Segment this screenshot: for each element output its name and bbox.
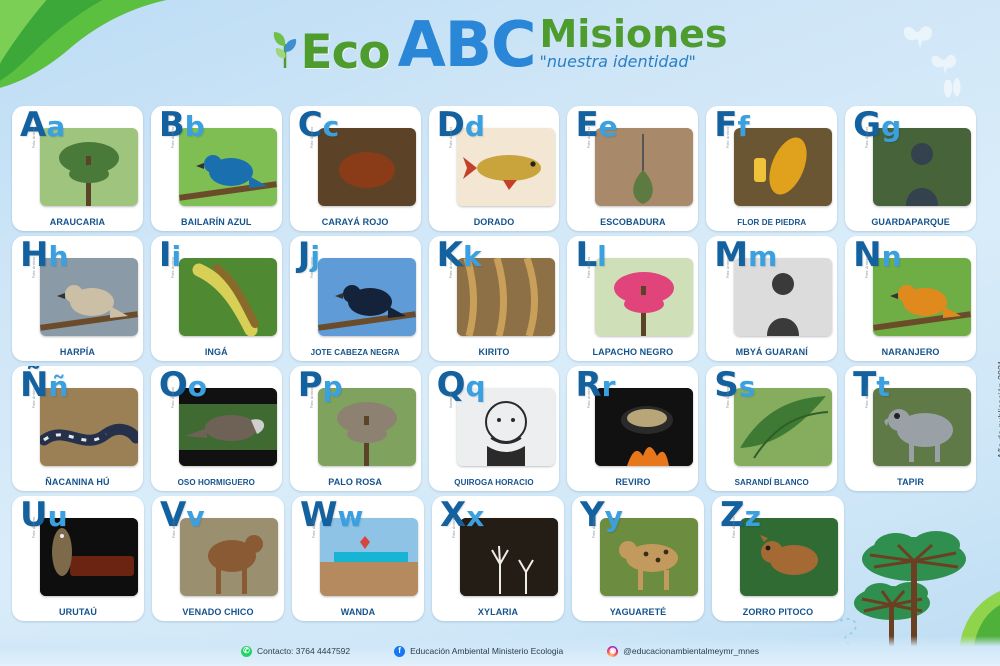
letter-card-q[interactable]: QqIlustraciónQUIROGA HORACIO [429, 366, 560, 491]
photo-credit: Foto: Archivo [32, 496, 36, 538]
lowercase-letter: d [465, 110, 485, 143]
photo-credit: Foto: Archivo [310, 106, 314, 148]
lowercase-letter: b [185, 110, 205, 143]
logo-misiones-text: Misiones [539, 12, 727, 56]
instagram-icon: ◉ [607, 646, 618, 657]
lowercase-letter: u [48, 500, 68, 533]
letter-card-t[interactable]: TtFoto: ArchivoTAPIR [845, 366, 976, 491]
lowercase-letter: ñ [48, 370, 68, 403]
card-letters: Tt [853, 368, 890, 402]
card-caption: URUTAÚ [12, 607, 144, 617]
lowercase-letter: w [338, 500, 364, 533]
pink-lapacho-tree-photo [595, 258, 693, 336]
card-caption: HARPÍA [12, 347, 143, 357]
logo-subtitle-text: "nuestra identidad" [539, 52, 695, 71]
letter-card-g[interactable]: GgFoto: ArchivoGUARDAPARQUE [845, 106, 976, 231]
card-caption: DORADO [429, 217, 560, 227]
card-letters: Rr [575, 368, 615, 402]
card-letters: Uu [20, 498, 68, 532]
card-caption: SARANDÍ BLANCO [706, 478, 837, 487]
footer-contact-item[interactable]: fEducación Ambiental Ministerio Ecologia [394, 646, 563, 657]
card-caption: WANDA [292, 607, 424, 617]
card-caption: ARAUCARIA [12, 217, 143, 227]
letter-card-e[interactable]: EeFoto: ArchivoESCOBADURA [567, 106, 698, 231]
lowercase-letter: f [738, 110, 750, 143]
photo-credit: Foto: Archivo [449, 106, 453, 148]
card-caption: GUARDAPARQUE [845, 217, 976, 227]
footer-contact-text: Contacto: 3764 4447592 [257, 646, 350, 656]
facebook-icon: f [394, 646, 405, 657]
letter-card-l[interactable]: LlFoto: ArchivoLAPACHO NEGRO [567, 236, 698, 361]
photo-credit: Foto: Archivo [587, 236, 591, 278]
lowercase-letter: g [881, 110, 901, 143]
card-caption: BAILARÍN AZUL [151, 217, 282, 227]
photo-credit: Foto: Archivo [32, 236, 36, 278]
letter-card-k[interactable]: KkFoto: ArchivoKIRITO [429, 236, 560, 361]
card-letters: Yy [580, 498, 623, 532]
photo-credit: Foto: Archivo [592, 496, 596, 538]
lowercase-letter: c [323, 110, 340, 143]
footer-contact-text: @educacionambientalmeymr_mnes [623, 646, 759, 656]
card-caption: NARANJERO [845, 347, 976, 357]
uppercase-letter: M [714, 236, 748, 275]
photo-credit: Foto: Archivo [310, 236, 314, 278]
letter-card-y[interactable]: YyFoto: ArchivoYAGUARETÉ [572, 496, 704, 621]
sprout-icon [272, 28, 298, 68]
uppercase-letter: J [298, 236, 311, 275]
letter-card-v[interactable]: VvFoto: ArchivoVENADO CHICO [152, 496, 284, 621]
lowercase-letter: l [597, 240, 607, 273]
photo-credit: Foto: Archivo [32, 106, 36, 148]
card-caption: KIRITO [429, 347, 560, 357]
lowercase-letter: q [465, 370, 485, 403]
logo-row: Eco ABC Misiones "nuestra identidad" [272, 14, 727, 76]
card-caption: YAGUARETÉ [572, 607, 704, 617]
letter-card-n[interactable]: NnFoto: ArchivoNARANJERO [845, 236, 976, 361]
photo-credit: Foto: Archivo [726, 366, 730, 408]
lowercase-letter: y [605, 500, 623, 533]
card-letters: Jj [298, 238, 320, 272]
photo-credit: Foto: Archivo [171, 366, 175, 408]
eco-abc-poster: Eco ABC Misiones "nuestra identidad" Año… [0, 0, 1000, 666]
photo-credit: Foto: Archivo [171, 236, 175, 278]
card-letters: Vv [160, 498, 205, 532]
logo-abc-text: ABC [398, 14, 536, 76]
lowercase-letter: p [323, 370, 343, 403]
lowercase-letter: v [186, 500, 204, 533]
card-caption: XYLARIA [432, 607, 564, 617]
letter-card-s[interactable]: SsFoto: ArchivoSARANDÍ BLANCO [706, 366, 837, 491]
photo-credit: Foto: Archivo [865, 236, 869, 278]
card-caption: LAPACHO NEGRO [567, 347, 698, 357]
photo-credit: Foto: Archivo [452, 496, 456, 538]
card-caption: MBYÁ GUARANÍ [706, 347, 837, 357]
photo-credit: Foto: Archivo [865, 366, 869, 408]
letter-card-o[interactable]: OoFoto: ArchivoOSO HORMIGUERO [151, 366, 282, 491]
letter-card-w[interactable]: WwFoto: ArchivoWANDA [292, 496, 424, 621]
photo-credit: Ilustración [449, 366, 453, 408]
alphabet-grid: AaFoto: ArchivoARAUCARIABbFoto: ArchivoB… [12, 106, 976, 626]
lowercase-letter: e [599, 110, 618, 143]
card-letters: Kk [437, 238, 482, 272]
letter-card-r[interactable]: RrFoto: ArchivoREVIRO [567, 366, 698, 491]
card-letters: Ii [159, 238, 181, 272]
letter-card-u[interactable]: UuFoto: ArchivoURUTAÚ [12, 496, 144, 621]
photo-credit: Foto: Archivo [726, 106, 730, 148]
letter-card-i[interactable]: IiFoto: ArchivoINGÁ [151, 236, 282, 361]
letter-card-p[interactable]: PpFoto: ArchivoPALO ROSA [290, 366, 421, 491]
photo-credit: Foto: Archivo [312, 496, 316, 538]
whatsapp-icon-glyph: ✆ [241, 646, 252, 657]
card-caption: REVIRO [567, 477, 698, 487]
card-caption: ESCOBADURA [567, 217, 698, 227]
footer-contact-item[interactable]: ◉@educacionambientalmeymr_mnes [607, 646, 759, 657]
inga-pods-photo [179, 258, 277, 336]
whatsapp-icon: ✆ [241, 646, 252, 657]
letter-card-z[interactable]: ZzFoto: ArchivoZORRO PITOCO [712, 496, 844, 621]
lowercase-letter: o [188, 370, 207, 403]
alphabet-row: HhFoto: ArchivoHARPÍAIiFoto: ArchivoINGÁ… [12, 236, 976, 361]
footer-contact-text: Educación Ambiental Ministerio Ecologia [410, 646, 563, 656]
poster-footer: ✆Contacto: 3764 4447592fEducación Ambien… [0, 636, 1000, 666]
photo-credit: Foto: Archivo [310, 366, 314, 408]
card-caption: VENADO CHICO [152, 607, 284, 617]
letter-card-a[interactable]: AaFoto: ArchivoARAUCARIA [12, 106, 143, 231]
lowercase-letter: m [748, 240, 777, 273]
card-letters: Hh [20, 238, 68, 272]
card-caption: ZORRO PITOCO [712, 607, 844, 617]
card-caption: QUIROGA HORACIO [429, 478, 560, 487]
footer-contact-item[interactable]: ✆Contacto: 3764 4447592 [241, 646, 350, 657]
alphabet-row: UuFoto: ArchivoURUTAÚVvFoto: ArchivoVENA… [12, 496, 976, 621]
logo-misiones-block: Misiones "nuestra identidad" [539, 16, 727, 76]
card-caption: TAPIR [845, 477, 976, 487]
card-caption: INGÁ [151, 347, 282, 357]
uppercase-letter: W [300, 496, 338, 535]
card-letters: Mm [714, 238, 777, 272]
lowercase-letter: h [48, 240, 68, 273]
card-caption: OSO HORMIGUERO [151, 478, 282, 487]
card-caption: PALO ROSA [290, 477, 421, 487]
photo-credit: Foto: Archivo [171, 106, 175, 148]
card-letters: Ff [714, 108, 749, 142]
card-letters: Aa [20, 108, 65, 142]
card-letters: Nn [853, 238, 901, 272]
card-letters: Ll [575, 238, 606, 272]
photo-credit: Foto: Archivo [587, 366, 591, 408]
card-letters: Ññ [20, 368, 68, 402]
lowercase-letter: k [463, 240, 482, 273]
card-caption: ÑACANINA HÚ [12, 477, 143, 487]
lowercase-letter: x [466, 500, 484, 533]
card-letters: Ss [714, 368, 755, 402]
poster-header: Eco ABC Misiones "nuestra identidad" [0, 14, 1000, 100]
lowercase-letter: z [745, 500, 761, 533]
photo-credit: Foto: Archivo [726, 236, 730, 278]
card-letters: Bb [159, 108, 205, 142]
lowercase-letter: a [46, 110, 65, 143]
logo-eco-text: Eco [300, 29, 389, 76]
lowercase-letter: r [602, 370, 616, 403]
black-vulture-photo [318, 258, 416, 336]
lowercase-letter: t [876, 370, 889, 403]
facebook-icon-glyph: f [394, 646, 405, 657]
alphabet-row: ÑñFoto: ArchivoÑACANINA HÚOoFoto: Archiv… [12, 366, 976, 491]
card-letters: Qq [437, 368, 486, 402]
instagram-icon-glyph: ◉ [607, 646, 618, 657]
card-caption: FLOR DE PIEDRA [706, 218, 837, 227]
photo-credit: Foto: Archivo [172, 496, 176, 538]
lowercase-letter: n [882, 240, 902, 273]
card-letters: Xx [440, 498, 484, 532]
card-letters: Ww [300, 498, 363, 532]
photo-credit: Foto: Archivo [449, 236, 453, 278]
uppercase-letter: I [159, 236, 172, 275]
letter-card-ñ[interactable]: ÑñFoto: ArchivoÑACANINA HÚ [12, 366, 143, 491]
photo-credit: Foto: Archivo [32, 366, 36, 408]
photo-credit: Foto: Archivo [587, 106, 591, 148]
card-letters: Ee [575, 108, 617, 142]
letter-card-b[interactable]: BbFoto: ArchivoBAILARÍN AZUL [151, 106, 282, 231]
card-caption: CARAYÁ ROJO [290, 217, 421, 227]
letter-card-f[interactable]: FfFoto: ArchivoFLOR DE PIEDRA [706, 106, 837, 231]
letter-card-c[interactable]: CcFoto: ArchivoCARAYÁ ROJO [290, 106, 421, 231]
photo-credit: Foto: Archivo [865, 106, 869, 148]
photo-credit: Foto: Archivo [732, 496, 736, 538]
letter-card-h[interactable]: HhFoto: ArchivoHARPÍA [12, 236, 143, 361]
letter-card-j[interactable]: JjFoto: ArchivoJOTE CABEZA NEGRA [290, 236, 421, 361]
card-letters: Cc [298, 108, 340, 142]
letter-card-d[interactable]: DdFoto: ArchivoDORADO [429, 106, 560, 231]
lowercase-letter: s [739, 370, 756, 403]
alphabet-row: AaFoto: ArchivoARAUCARIABbFoto: ArchivoB… [12, 106, 976, 231]
card-letters: Dd [437, 108, 485, 142]
card-caption: JOTE CABEZA NEGRA [290, 348, 421, 357]
letter-card-x[interactable]: XxFoto: ArchivoXYLARIA [432, 496, 564, 621]
letter-card-m[interactable]: MmFoto: ArchivoMBYÁ GUARANÍ [706, 236, 837, 361]
card-letters: Gg [853, 108, 901, 142]
card-letters: Zz [720, 498, 761, 532]
card-letters: Pp [298, 368, 343, 402]
card-letters: Oo [159, 368, 207, 402]
